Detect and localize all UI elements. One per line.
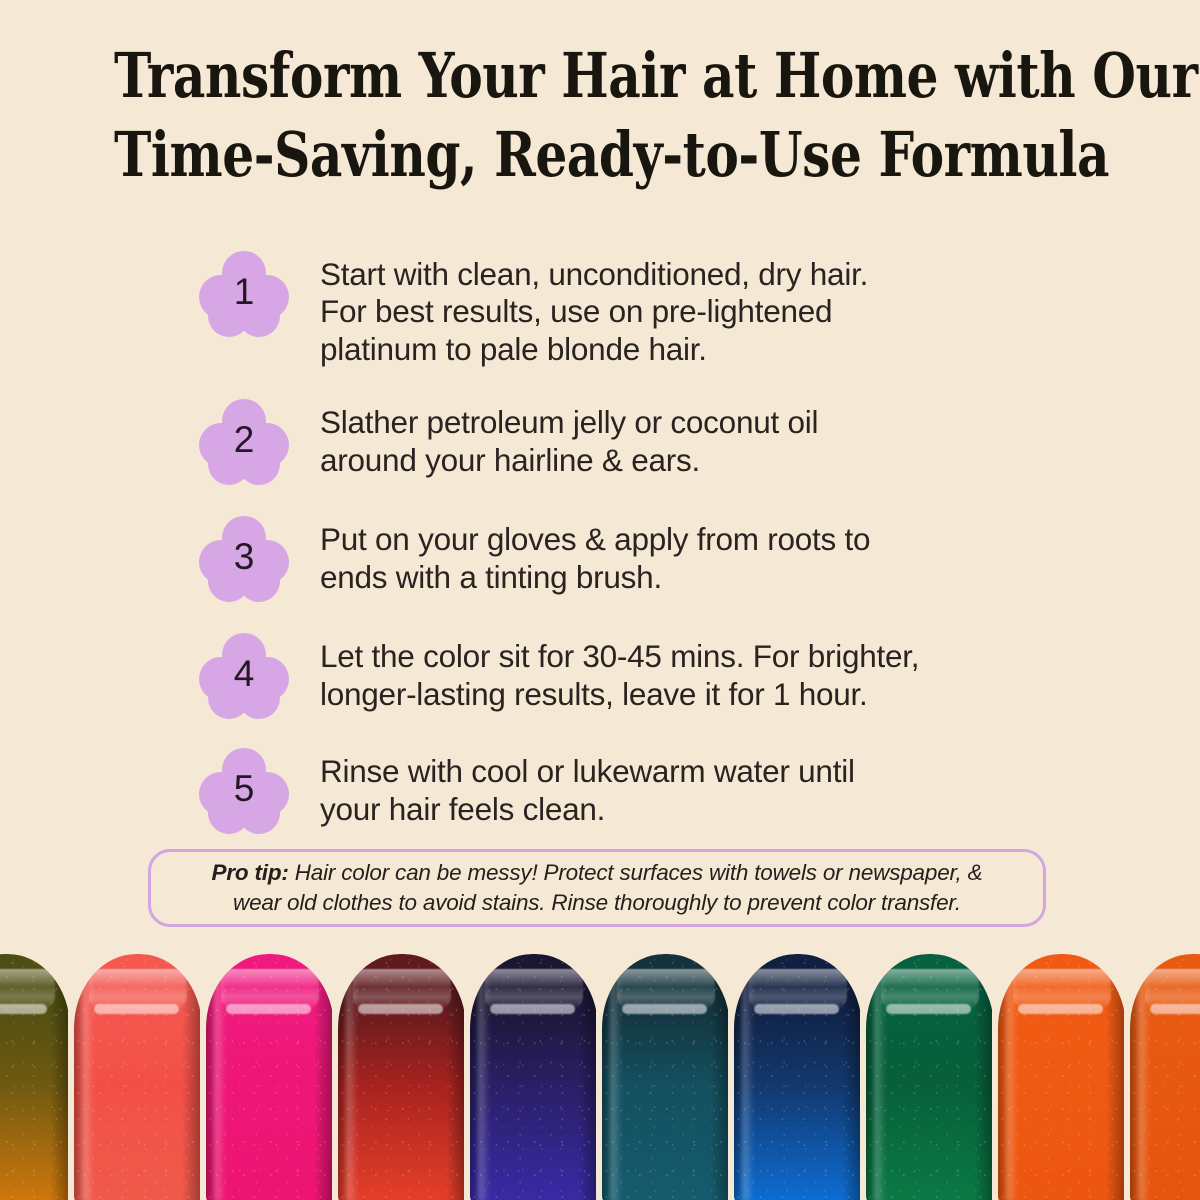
step-number-badge-1: 1 bbox=[198, 251, 290, 337]
bottle-hot-pink-magenta bbox=[206, 954, 334, 1200]
step-item-3: 3 Put on your gloves & apply from roots … bbox=[198, 513, 1078, 602]
step-1-line-2: For best results, use on pre-lightened bbox=[320, 293, 1078, 330]
bottle-cap bbox=[485, 969, 582, 1009]
pro-tip-line-1: Pro tip: Hair color can be messy! Protec… bbox=[212, 858, 983, 888]
bottle-cap2 bbox=[358, 1004, 442, 1014]
step-item-5: 5 Rinse with cool or lukewarm water unti… bbox=[198, 745, 1078, 834]
bottle-cap2 bbox=[754, 1004, 838, 1014]
pro-tip-label: Pro tip: bbox=[212, 860, 289, 885]
bottle-deep-teal bbox=[602, 954, 730, 1200]
step-4-line-2: longer-lasting results, leave it for 1 h… bbox=[320, 676, 1078, 713]
bottle-cap2 bbox=[0, 1004, 47, 1014]
step-text-3: Put on your gloves & apply from roots to… bbox=[320, 513, 1078, 596]
step-number-1: 1 bbox=[198, 251, 290, 333]
bottle-cap2 bbox=[1018, 1004, 1102, 1014]
step-3-line-1: Put on your gloves & apply from roots to bbox=[320, 521, 1078, 558]
bottle-cap2 bbox=[622, 1004, 706, 1014]
bottle-midnight-purple bbox=[470, 954, 598, 1200]
bottle-cap bbox=[1145, 969, 1200, 1009]
step-2-line-1: Slather petroleum jelly or coconut oil bbox=[320, 404, 1078, 441]
step-number-badge-3: 3 bbox=[198, 516, 290, 602]
pro-tip-body-1: Hair color can be messy! Protect surface… bbox=[295, 860, 983, 885]
step-number-4: 4 bbox=[198, 633, 290, 715]
bottle-navy-electric-blue bbox=[734, 954, 862, 1200]
infographic-page: Transform Your Hair at Home with Our Tim… bbox=[0, 0, 1200, 1200]
bottle-edge-orange bbox=[1130, 954, 1200, 1200]
steps-list: 1 Start with clean, unconditioned, dry h… bbox=[198, 248, 1078, 834]
bottle-cap2 bbox=[490, 1004, 574, 1014]
step-item-4: 4 Let the color sit for 30-45 mins. For … bbox=[198, 630, 1078, 719]
step-2-line-2: around your hairline & ears. bbox=[320, 442, 1078, 479]
bottle-cap2 bbox=[94, 1004, 178, 1014]
product-bottles-image bbox=[0, 938, 1200, 1200]
bottle-cap bbox=[1013, 969, 1110, 1009]
bottle-bright-orange bbox=[998, 954, 1126, 1200]
bottle-coral-red bbox=[74, 954, 202, 1200]
bottle-cap bbox=[89, 969, 186, 1009]
bottle-cap bbox=[617, 969, 714, 1009]
step-1-line-3: platinum to pale blonde hair. bbox=[320, 331, 1078, 368]
title-line-1: Transform Your Hair at Home with Our bbox=[114, 36, 1086, 115]
step-item-2: 2 Slather petroleum jelly or coconut oil… bbox=[198, 396, 1078, 485]
step-5-line-1: Rinse with cool or lukewarm water until bbox=[320, 753, 1078, 790]
step-4-line-1: Let the color sit for 30-45 mins. For br… bbox=[320, 638, 1078, 675]
step-5-line-2: your hair feels clean. bbox=[320, 791, 1078, 828]
step-text-2: Slather petroleum jelly or coconut oil a… bbox=[320, 396, 1078, 479]
bottle-olive-green-gold bbox=[0, 954, 70, 1200]
step-text-5: Rinse with cool or lukewarm water until … bbox=[320, 745, 1078, 828]
pro-tip-callout: Pro tip: Hair color can be messy! Protec… bbox=[148, 849, 1046, 927]
pro-tip-text: Pro tip: Hair color can be messy! Protec… bbox=[212, 858, 983, 918]
step-number-2: 2 bbox=[198, 399, 290, 481]
bottle-emerald-green bbox=[866, 954, 994, 1200]
step-number-5: 5 bbox=[198, 748, 290, 830]
bottle-cap2 bbox=[226, 1004, 310, 1014]
step-3-line-2: ends with a tinting brush. bbox=[320, 559, 1078, 596]
page-title: Transform Your Hair at Home with Our Tim… bbox=[60, 36, 1140, 195]
step-number-badge-2: 2 bbox=[198, 399, 290, 485]
title-line-2: Time-Saving, Ready-to-Use Formula bbox=[114, 115, 1086, 194]
step-1-line-1: Start with clean, unconditioned, dry hai… bbox=[320, 256, 1078, 293]
bottle-cap bbox=[0, 969, 55, 1009]
bottle-deep-burgundy-red bbox=[338, 954, 466, 1200]
step-number-badge-5: 5 bbox=[198, 748, 290, 834]
step-number-3: 3 bbox=[198, 516, 290, 598]
bottle-cap bbox=[749, 969, 846, 1009]
bottle-cap2 bbox=[1150, 1004, 1200, 1014]
pro-tip-line-2: wear old clothes to avoid stains. Rinse … bbox=[212, 888, 983, 918]
bottle-cap bbox=[353, 969, 450, 1009]
bottle-cap2 bbox=[886, 1004, 970, 1014]
step-text-4: Let the color sit for 30-45 mins. For br… bbox=[320, 630, 1078, 713]
bottle-cap bbox=[881, 969, 978, 1009]
bottle-cap bbox=[221, 969, 318, 1009]
step-text-1: Start with clean, unconditioned, dry hai… bbox=[320, 248, 1078, 368]
step-item-1: 1 Start with clean, unconditioned, dry h… bbox=[198, 248, 1078, 368]
step-number-badge-4: 4 bbox=[198, 633, 290, 719]
